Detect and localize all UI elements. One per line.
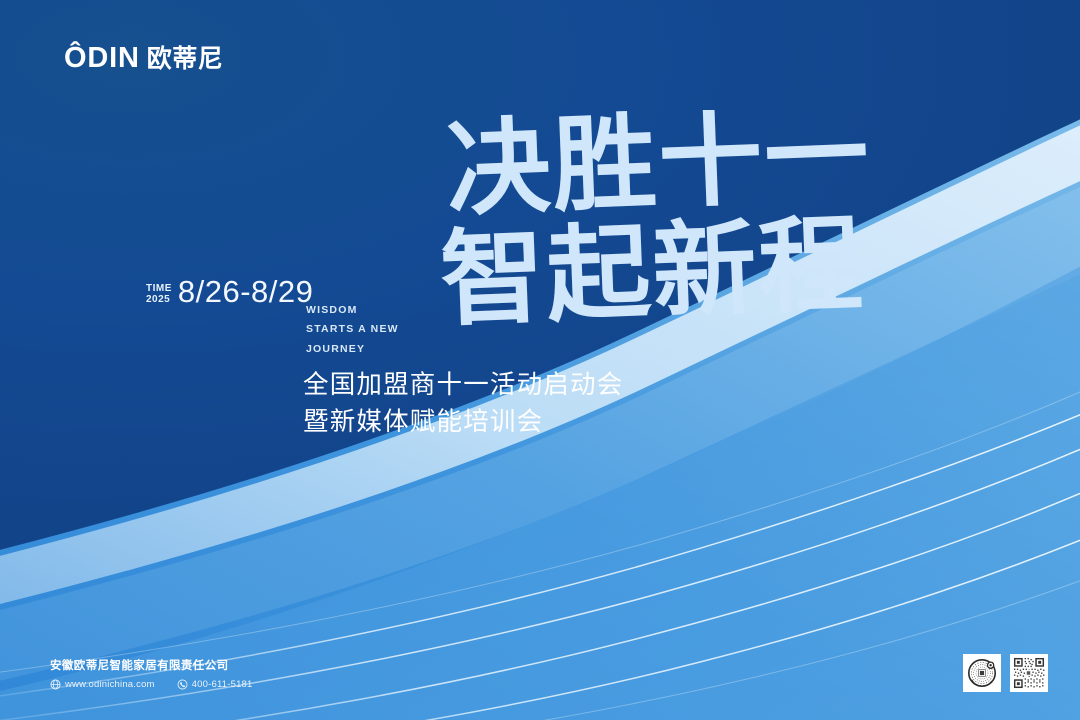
contact-row: www.odinichina.com 400-611-5181 (50, 679, 253, 690)
main-title-line2: 智起新程 (440, 203, 867, 340)
website-text: www.odinichina.com (65, 679, 155, 690)
logo-latin-text: ÔDIN (64, 44, 140, 73)
time-label-year: 2025 (146, 294, 172, 305)
time-label-top: TIME (146, 283, 172, 294)
english-tagline: WISDOM STARTS A NEW JOURNEY (306, 301, 399, 359)
tagline-line-1: WISDOM (306, 301, 399, 320)
event-date: TIME 2025 8/26-8/29 (146, 276, 313, 307)
background-waves (0, 0, 1080, 720)
company-name: 安徽欧蒂尼智能家居有限责任公司 (50, 657, 253, 673)
tagline-line-2: STARTS A NEW (306, 320, 399, 339)
qr-code-wechat-official[interactable] (963, 654, 1001, 692)
logo-chinese-text: 欧蒂尼 (147, 46, 224, 71)
brand-logo: ÔDIN 欧蒂尼 (64, 44, 223, 73)
phone-icon (177, 679, 188, 690)
time-range-value: 8/26-8/29 (178, 276, 314, 307)
subtitle-line-1: 全国加盟商十一活动启动会 (303, 367, 623, 404)
phone-text: 400-611-5181 (192, 679, 253, 690)
time-label: TIME 2025 (146, 283, 172, 305)
phone-contact: 400-611-5181 (177, 679, 253, 690)
qr-code-group (963, 654, 1048, 692)
poster-canvas: ÔDIN 欧蒂尼 决胜十一 智起新程 TIME 2025 8/26-8/29 W… (0, 0, 1080, 720)
globe-icon (50, 679, 61, 690)
main-title: 决胜十一 智起新程 (440, 110, 910, 340)
footer-block: 安徽欧蒂尼智能家居有限责任公司 www.odinichina.com (50, 657, 253, 690)
subtitle-line-2: 暨新媒体赋能培训会 (303, 404, 623, 441)
website-contact: www.odinichina.com (50, 679, 155, 690)
qr-code-mini-program[interactable] (1010, 654, 1048, 692)
tagline-line-3: JOURNEY (306, 340, 399, 359)
event-subtitle: 全国加盟商十一活动启动会 暨新媒体赋能培训会 (303, 367, 623, 440)
